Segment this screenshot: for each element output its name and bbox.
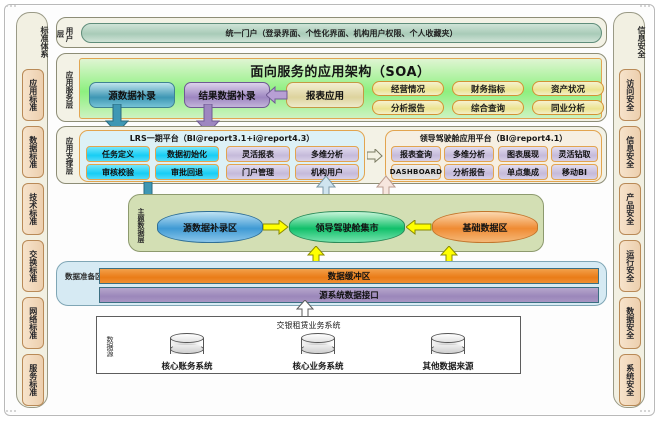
rail-item-label: 数据安全 [625, 307, 635, 339]
chip-peer-analysis[interactable]: 同业分析 [532, 100, 604, 115]
rail-item-operation-security[interactable]: 运行安全 [619, 240, 641, 292]
arrow-report-to-result-fill [266, 86, 288, 104]
rail-item-label: 服务标准 [28, 364, 38, 396]
lrs-button-flexible-report[interactable]: 灵活报表 [226, 146, 290, 162]
rail-item-label: 网络标准 [28, 307, 38, 339]
report-application-box[interactable]: 报表应用 [286, 82, 364, 108]
rail-item-data-security[interactable]: 数据安全 [619, 297, 641, 349]
database-icon [170, 333, 204, 359]
rail-item-label: 访问安全 [625, 79, 635, 111]
cockpit-platform-title: 领导驾驶舱应用平台（BI@report4.1） [386, 133, 601, 144]
cockpit-button-sso-integration[interactable]: 单点集成 [498, 164, 548, 180]
corner-dots-bottom-left [6, 410, 20, 416]
cockpit-button-dashboard[interactable]: DASHBOARD [391, 164, 441, 180]
rail-item-label: 技术标准 [28, 193, 38, 225]
lrs-platform-panel: LRS一期平台（BI@report3.1+i@report4.3） 任务定义 数… [79, 130, 365, 182]
data-preparation-label: 数据准备区 [65, 272, 79, 298]
chip-financial-index[interactable]: 财务指标 [452, 81, 524, 96]
rail-item-application-standard[interactable]: 应用标准 [22, 69, 44, 121]
soa-architecture-box: 面向服务的应用架构（SOA） 源数据补录 结果数据补录 报表应用 经营情况 财务… [79, 58, 602, 119]
rail-item-product-security[interactable]: 产品安全 [619, 183, 641, 235]
rail-item-information-security[interactable]: 信息安全 [619, 126, 641, 178]
data-preparation-label-text: 数据准备区 [65, 272, 103, 281]
data-source-system-core-business[interactable]: 核心业务系统 [268, 360, 368, 372]
user-layer-panel: 用户层 统一门户（登录界面、个性化界面、机构用户权限、个人收藏夹） [56, 17, 607, 48]
soa-title: 面向服务的应用架构（SOA） [80, 61, 601, 80]
cockpit-button-flexible-drill[interactable]: 灵活钻取 [551, 146, 598, 162]
database-icon [431, 333, 465, 359]
chip-operation-status[interactable]: 经营情况 [372, 81, 444, 96]
cockpit-button-multidim[interactable]: 多维分析 [444, 146, 494, 162]
rail-item-system-security[interactable]: 系统安全 [619, 354, 641, 406]
architecture-diagram-canvas: 标准体系 应用标准 数据标准 技术标准 交换标准 网络标准 服务标准 信息安全 … [0, 0, 661, 422]
data-source-label: 数据源 [103, 331, 114, 361]
lrs-button-approval-return[interactable]: 审批回退 [155, 164, 219, 180]
rail-item-label: 信息安全 [625, 136, 635, 168]
arrow-basic-area-to-mart [406, 220, 432, 235]
lrs-button-portal-management[interactable]: 门户管理 [226, 164, 290, 180]
rail-item-label: 应用标准 [28, 79, 38, 111]
cockpit-button-mobile-bi[interactable]: 移动BI [551, 164, 598, 180]
data-buffer-bar[interactable]: 数据缓冲区 [99, 268, 599, 284]
basic-data-area-cylinder[interactable]: 基础数据区 [432, 211, 538, 243]
leader-cockpit-mart-cylinder[interactable]: 领导驾驶舱集市 [289, 211, 405, 243]
chip-comprehensive-query[interactable]: 综合查询 [452, 100, 524, 115]
cockpit-button-chart-display[interactable]: 图表展现 [498, 146, 548, 162]
arrow-lrs-to-cockpit [367, 149, 383, 163]
rail-item-label: 产品安全 [625, 193, 635, 225]
rail-item-label: 运行安全 [625, 250, 635, 282]
rail-item-service-standard[interactable]: 服务标准 [22, 354, 44, 406]
lrs-platform-title: LRS一期平台（BI@report3.1+i@report4.3） [80, 133, 364, 144]
corner-dots-top-left [6, 5, 20, 11]
app-support-layer-label: 应用支撑层 [60, 133, 74, 179]
rail-item-label: 系统安全 [625, 364, 635, 396]
cockpit-button-report-query[interactable]: 报表查询 [391, 146, 441, 162]
rail-item-label: 交换标准 [28, 250, 38, 282]
chip-analysis-report[interactable]: 分析报告 [372, 100, 444, 115]
rail-item-access-security[interactable]: 访问安全 [619, 69, 641, 121]
unified-portal-pill[interactable]: 统一门户（登录界面、个性化界面、机构用户权限、个人收藏夹） [81, 23, 602, 43]
app-service-layer-panel: 应用服务层 面向服务的应用架构（SOA） 源数据补录 结果数据补录 报表应用 经… [56, 53, 607, 122]
user-layer-label: 用户层 [60, 24, 74, 44]
right-rail-title: 信息安全 [614, 20, 646, 64]
lrs-button-task-definition[interactable]: 任务定义 [86, 146, 150, 162]
source-system-interface-bar[interactable]: 源系统数据接口 [99, 287, 599, 303]
lrs-button-multidim-analysis[interactable]: 多维分析 [295, 146, 359, 162]
corner-dots-top-right [640, 5, 654, 11]
data-source-system-core-accounting[interactable]: 核心账务系统 [137, 360, 237, 372]
source-data-fill-box[interactable]: 源数据补录 [89, 82, 175, 108]
app-service-layer-label: 应用服务层 [60, 66, 74, 114]
theme-data-layer-panel: 主题数据层 源数据补录区 领导驾驶舱集市 基础数据区 [128, 194, 544, 252]
arrow-source-area-to-mart [263, 220, 289, 235]
data-source-system-other[interactable]: 其他数据来源 [398, 360, 498, 372]
rail-item-network-standard[interactable]: 网络标准 [22, 297, 44, 349]
theme-data-layer-label: 主题数据层 [133, 204, 145, 246]
rail-item-technology-standard[interactable]: 技术标准 [22, 183, 44, 235]
cockpit-button-analysis-report[interactable]: 分析报告 [444, 164, 494, 180]
data-preparation-panel: 数据准备区 数据缓冲区 源系统数据接口 [56, 261, 607, 306]
left-rail-title: 标准体系 [17, 20, 49, 64]
rail-item-exchange-standard[interactable]: 交换标准 [22, 240, 44, 292]
chip-asset-status[interactable]: 资产状况 [532, 81, 604, 96]
lrs-button-audit-check[interactable]: 审核校验 [86, 164, 150, 180]
source-data-fill-area-cylinder[interactable]: 源数据补录区 [157, 211, 263, 243]
data-source-panel: 数据源 交银租赁业务系统 核心账务系统 核心业务系统 其他数据来源 [96, 316, 521, 374]
rail-item-label: 数据标准 [28, 136, 38, 168]
database-icon [301, 333, 335, 359]
corner-dots-bottom-right [640, 410, 654, 416]
rail-item-data-standard[interactable]: 数据标准 [22, 126, 44, 178]
data-source-title: 交银租赁业务系统 [97, 320, 520, 331]
right-rail-security: 信息安全 访问安全 信息安全 产品安全 运行安全 数据安全 系统安全 [613, 12, 645, 408]
left-rail-standards: 标准体系 应用标准 数据标准 技术标准 交换标准 网络标准 服务标准 [16, 12, 48, 408]
cockpit-platform-panel: 领导驾驶舱应用平台（BI@report4.1） 报表查询 多维分析 图表展现 灵… [385, 130, 602, 182]
lrs-button-data-init[interactable]: 数据初始化 [155, 146, 219, 162]
